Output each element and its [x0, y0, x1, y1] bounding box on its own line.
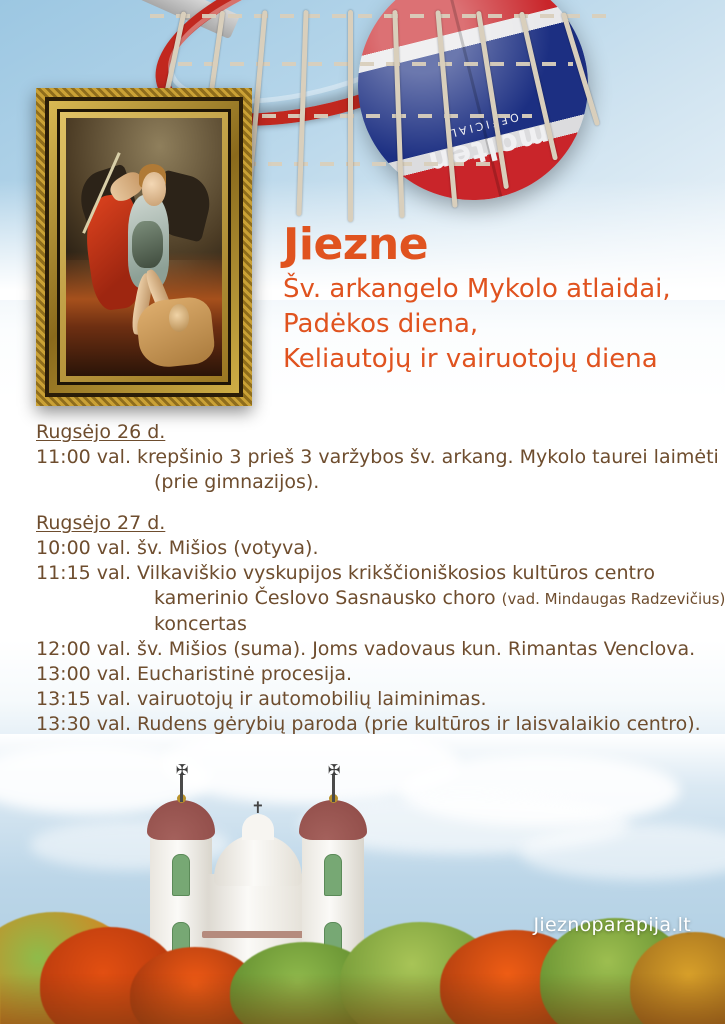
schedule-event-continuation: kamerinio Česlovo Sasnausko choro (vad. … — [36, 586, 708, 612]
tree-shape — [0, 974, 725, 1024]
subtitle-line-2: Padėkos diena, — [283, 307, 703, 342]
schedule-event-line: 13:15 val. vairuotojų ir automobilių lai… — [36, 687, 708, 712]
archangel-michael-painting — [66, 118, 222, 376]
church-gable-top — [242, 814, 274, 840]
schedule-day-block: Rugsėjo 27 d. 10:00 val. šv. Mišios (vot… — [36, 511, 708, 737]
schedule-day-block: Rugsėjo 26 d. 11:00 val. krepšinio 3 pri… — [36, 420, 708, 495]
choir-name-text: kamerinio Česlovo Sasnausko choro — [154, 587, 496, 609]
schedule-event-line: 10:00 val. šv. Mišios (votyva). — [36, 536, 708, 561]
church-landscape-scene: ✠ ✝ ✠ — [0, 734, 725, 1024]
subtitle-line-1: Šv. arkangelo Mykolo atlaidai, — [283, 272, 703, 307]
schedule-event-line: 11:00 val. krepšinio 3 prieš 3 varžybos … — [36, 445, 708, 470]
choir-conductor-note: (vad. Mindaugas Radzevičius) — [502, 590, 725, 608]
title-block: Jiezne Šv. arkangelo Mykolo atlaidai, Pa… — [283, 218, 703, 377]
schedule-event-line: 11:15 val. Vilkaviškio vyskupijos krikšč… — [36, 561, 708, 586]
poster-canvas: molten OFFICIAL — [0, 0, 725, 1024]
watermark-text: Jieznoparapija.lt — [534, 914, 692, 936]
schedule-event-line: 13:00 val. Eucharistinė procesija. — [36, 662, 708, 687]
schedule-section: Rugsėjo 26 d. 11:00 val. krepšinio 3 pri… — [36, 420, 708, 737]
autumn-treeline — [0, 874, 725, 1024]
schedule-day-heading: Rugsėjo 27 d. — [36, 511, 708, 535]
schedule-event-continuation: koncertas — [36, 612, 708, 637]
cross-icon: ✠ — [174, 762, 190, 778]
framed-painting — [36, 88, 252, 406]
schedule-day-heading: Rugsėjo 26 d. — [36, 420, 708, 444]
cross-icon: ✠ — [326, 762, 342, 778]
subtitle-line-3: Keliautojų ir vairuotojų diena — [283, 342, 703, 377]
schedule-event-line: 12:00 val. šv. Mišios (suma). Joms vadov… — [36, 637, 708, 662]
cross-icon: ✝ — [250, 798, 266, 816]
schedule-event-continuation: (prie gimnazijos). — [36, 470, 708, 495]
page-title: Jiezne — [283, 218, 703, 272]
